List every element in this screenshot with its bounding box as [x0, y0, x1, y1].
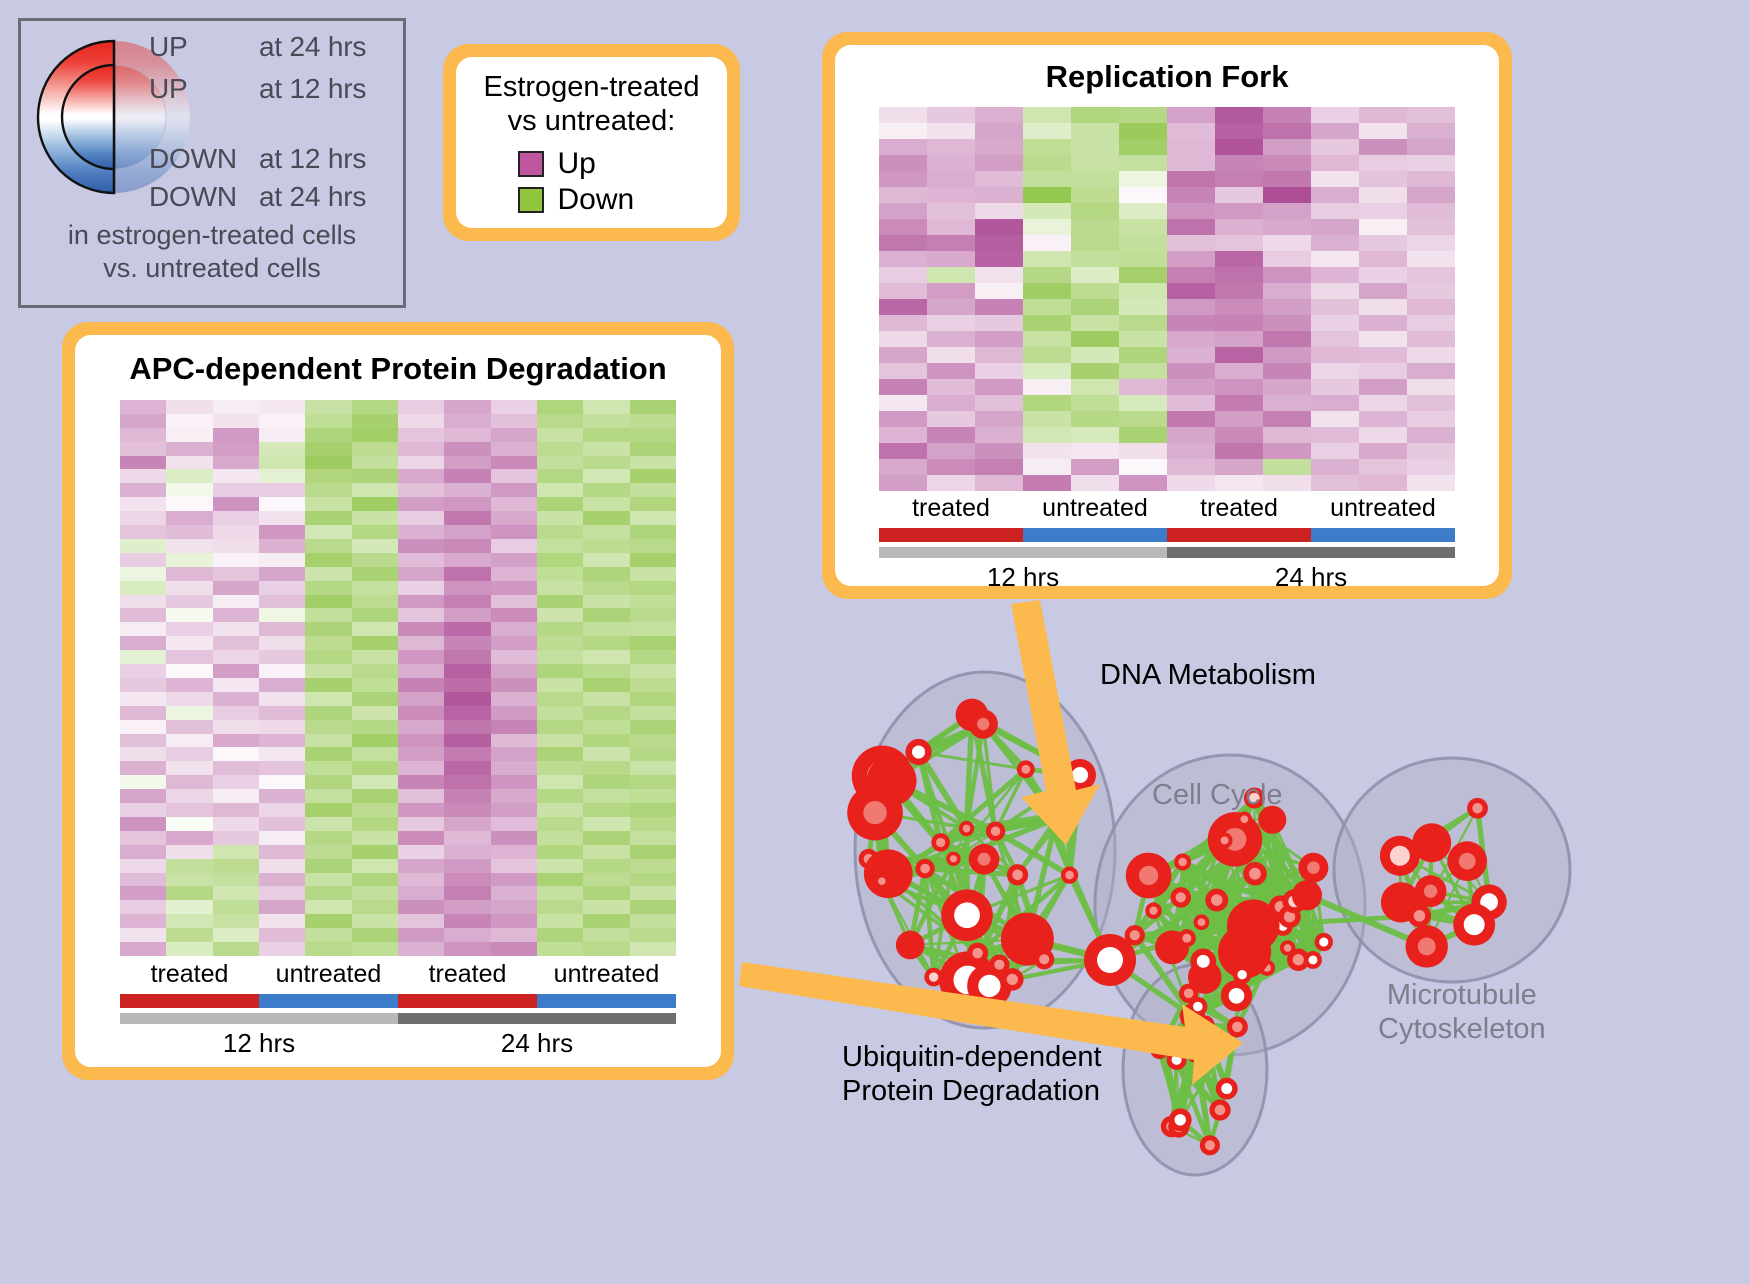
- heatmap-cell: [259, 678, 305, 692]
- heatmap-cell: [444, 539, 490, 553]
- heatmap-cell: [166, 511, 212, 525]
- heatmap-cell: [583, 483, 629, 497]
- rep-time-label-12: 12 hrs: [879, 563, 1167, 586]
- heatmap-cell: [537, 456, 583, 470]
- heatmap-cell: [120, 608, 166, 622]
- heatmap-cell: [1071, 475, 1119, 491]
- heatmap-cell: [120, 775, 166, 789]
- heatmap-cell: [213, 414, 259, 428]
- heatmap-cell: [583, 873, 629, 887]
- heatmap-cell: [1359, 171, 1407, 187]
- heatmap-cell: [1263, 235, 1311, 251]
- heatmap-cell: [537, 581, 583, 595]
- heatmap-cell: [352, 497, 398, 511]
- heatmap-cell: [630, 678, 676, 692]
- heatmap-cell: [1023, 171, 1071, 187]
- network-node-core: [1193, 1002, 1203, 1012]
- heatmap-cell: [1023, 235, 1071, 251]
- heatmap-cell: [352, 664, 398, 678]
- heatmap-cell: [879, 123, 927, 139]
- heatmap-cell: [213, 706, 259, 720]
- heatmap-cell: [583, 761, 629, 775]
- heatmap-cell: [1119, 379, 1167, 395]
- heatmap-cell: [120, 469, 166, 483]
- heatmap-cell: [1215, 235, 1263, 251]
- network-node-core: [1293, 954, 1304, 965]
- heatmap-cell: [1167, 251, 1215, 267]
- heatmap-cell: [1359, 283, 1407, 299]
- heatmap-cell: [259, 734, 305, 748]
- heatmap-cell: [1023, 347, 1071, 363]
- network-node-core: [912, 745, 925, 758]
- heatmap-cell: [305, 539, 351, 553]
- heatmap-cell: [120, 442, 166, 456]
- heatmap-cell: [444, 581, 490, 595]
- network-node-core: [1063, 808, 1072, 817]
- heatmap-cell: [879, 395, 927, 411]
- heatmap-cell: [927, 267, 975, 283]
- heatmap-cell: [630, 859, 676, 873]
- heatmap-cell: [1119, 187, 1167, 203]
- heatmap-cell: [879, 283, 927, 299]
- heatmap-cell: [491, 414, 537, 428]
- heatmap-cell: [1071, 251, 1119, 267]
- heatmap-cell: [491, 734, 537, 748]
- heatmap-cell: [166, 720, 212, 734]
- heatmap-cell: [120, 817, 166, 831]
- heatmap-cell: [975, 331, 1023, 347]
- heatmap-cell: [879, 427, 927, 443]
- heatmap-cell: [491, 747, 537, 761]
- heatmap-cell: [166, 859, 212, 873]
- heatmap-cell: [259, 845, 305, 859]
- heatmap-cell: [1263, 123, 1311, 139]
- heatmap-cell: [1407, 171, 1455, 187]
- network-node-core: [1021, 765, 1030, 774]
- heatmap-cell: [1359, 459, 1407, 475]
- heatmap-cell: [1023, 107, 1071, 123]
- network-node-core: [950, 855, 957, 862]
- heatmap-cell: [352, 622, 398, 636]
- heatmap-cell: [1359, 203, 1407, 219]
- heatmap-cell: [491, 483, 537, 497]
- heatmap-cell: [259, 497, 305, 511]
- heatmap-cell: [583, 817, 629, 831]
- heatmap-cell: [491, 581, 537, 595]
- heatmap-cell: [259, 414, 305, 428]
- heatmap-cell: [398, 706, 444, 720]
- heatmap-cell: [213, 525, 259, 539]
- heatmap-cell: [259, 428, 305, 442]
- heatmap-cell: [1311, 395, 1359, 411]
- heatmap-cell: [583, 581, 629, 595]
- heatmap-cell: [1167, 299, 1215, 315]
- heatmap-cell: [630, 928, 676, 942]
- heatmap-cell: [398, 734, 444, 748]
- network-node-core: [1390, 846, 1410, 866]
- heatmap-cell: [1407, 395, 1455, 411]
- heatmap-cell: [305, 581, 351, 595]
- heatmap-cell: [491, 567, 537, 581]
- heatmap-cell: [213, 636, 259, 650]
- heatmap-cell: [927, 459, 975, 475]
- heatmap-cell: [1359, 347, 1407, 363]
- heatmap-cell: [259, 817, 305, 831]
- heatmap-cell: [1263, 459, 1311, 475]
- heatmap-cell: [120, 511, 166, 525]
- network-node-core: [1190, 1037, 1201, 1048]
- heatmap-cell: [583, 789, 629, 803]
- heatmap-cell: [398, 789, 444, 803]
- heatmap-cell: [630, 775, 676, 789]
- heatmap-cell: [213, 456, 259, 470]
- heatmap-cell: [1215, 251, 1263, 267]
- apc-time-label-12: 12 hrs: [120, 1029, 398, 1058]
- heatmap-cell: [927, 379, 975, 395]
- heatmap-cell: [305, 817, 351, 831]
- heatmap-cell: [1215, 475, 1263, 491]
- heatmap-cell: [1311, 155, 1359, 171]
- heatmap-cell: [1119, 299, 1167, 315]
- heatmap-cell: [444, 747, 490, 761]
- heatmap-cell: [630, 803, 676, 817]
- heatmap-cell: [1071, 395, 1119, 411]
- legend-key-down-12: DOWN: [149, 143, 237, 175]
- heatmap-cell: [1407, 379, 1455, 395]
- heatmap-cell: [398, 622, 444, 636]
- heatmap-cell: [120, 567, 166, 581]
- network-node-core: [1221, 1083, 1232, 1094]
- heatmap-cell: [1167, 171, 1215, 187]
- heatmap-cell: [1071, 171, 1119, 187]
- heatmap-cell: [1167, 203, 1215, 219]
- heatmap-cell: [213, 469, 259, 483]
- rep-bar-untreated-12: [1023, 528, 1167, 542]
- heatmap-cell: [1071, 107, 1119, 123]
- heatmap-cell: [879, 219, 927, 235]
- heatmap-cell: [166, 734, 212, 748]
- heatmap-cell: [305, 942, 351, 956]
- heatmap-cell: [1071, 219, 1119, 235]
- heatmap-cell: [1119, 347, 1167, 363]
- heatmap-cell: [975, 283, 1023, 299]
- heatmap-cell: [444, 706, 490, 720]
- heatmap-cell: [120, 761, 166, 775]
- heatmap-cell: [352, 900, 398, 914]
- heatmap-cell: [259, 636, 305, 650]
- heatmap-cell: [213, 761, 259, 775]
- heatmap-cell: [352, 414, 398, 428]
- replication-fork-panel: Replication Fork treated untreated treat…: [822, 32, 1512, 599]
- heatmap-cell: [259, 761, 305, 775]
- heatmap-cell: [398, 567, 444, 581]
- heatmap-cell: [305, 469, 351, 483]
- heatmap-cell: [491, 817, 537, 831]
- heatmap-cell: [305, 775, 351, 789]
- heatmap-cell: [1311, 187, 1359, 203]
- heatmap-cell: [259, 692, 305, 706]
- heatmap-cell: [213, 428, 259, 442]
- heatmap-cell: [491, 928, 537, 942]
- heatmap-cell: [213, 734, 259, 748]
- network-node-core: [1139, 866, 1158, 885]
- apc-title: APC-dependent Protein Degradation: [75, 351, 721, 387]
- heatmap-cell: [975, 379, 1023, 395]
- heatmap-cell: [352, 886, 398, 900]
- heatmap-cell: [352, 831, 398, 845]
- legend-key-up-24: UP: [149, 31, 188, 63]
- heatmap-cell: [120, 650, 166, 664]
- replication-fork-title: Replication Fork: [835, 59, 1499, 95]
- network-node-core: [978, 853, 991, 866]
- network-node-core: [1178, 858, 1187, 867]
- heatmap-cell: [166, 845, 212, 859]
- heatmap-cell: [1071, 411, 1119, 427]
- heatmap-cell: [1215, 267, 1263, 283]
- heatmap-cell: [1071, 363, 1119, 379]
- heatmap-cell: [259, 469, 305, 483]
- heatmap-cell: [583, 928, 629, 942]
- apc-time-label-24: 24 hrs: [398, 1029, 676, 1058]
- heatmap-cell: [583, 803, 629, 817]
- heatmap-cell: [166, 469, 212, 483]
- heatmap-cell: [630, 886, 676, 900]
- heatmap-cell: [1359, 251, 1407, 267]
- heatmap-cell: [1311, 315, 1359, 331]
- heatmap-cell: [1311, 459, 1359, 475]
- heatmap-cell: [1263, 475, 1311, 491]
- heatmap-cell: [259, 706, 305, 720]
- heatmap-cell: [583, 414, 629, 428]
- heatmap-cell: [352, 692, 398, 706]
- heatmap-cell: [213, 608, 259, 622]
- heatmap-cell: [1263, 171, 1311, 187]
- heatmap-cell: [583, 525, 629, 539]
- heatmap-cell: [213, 928, 259, 942]
- heatmap-cell: [213, 539, 259, 553]
- heatmap-cell: [259, 928, 305, 942]
- heatmap-cell: [491, 622, 537, 636]
- heatmap-cell: [1407, 203, 1455, 219]
- cluster-label-cell-cycle: Cell Cycle: [1152, 778, 1283, 812]
- heatmap-cell: [1407, 475, 1455, 491]
- heatmap-cell: [305, 595, 351, 609]
- heatmap-cell: [352, 650, 398, 664]
- apc-timebar-24hrs: [398, 1013, 676, 1024]
- heatmap-cell: [1167, 411, 1215, 427]
- heatmap-cell: [537, 650, 583, 664]
- heatmap-cell: [1119, 235, 1167, 251]
- heatmap-cell: [213, 483, 259, 497]
- heatmap-cell: [1023, 331, 1071, 347]
- heatmap-cell: [120, 706, 166, 720]
- heatmap-cell: [305, 622, 351, 636]
- heatmap-cell: [975, 187, 1023, 203]
- heatmap-cell: [491, 469, 537, 483]
- heatmap-cell: [1215, 139, 1263, 155]
- heatmap-cell: [213, 581, 259, 595]
- heatmap-cell: [491, 428, 537, 442]
- heatmap-cell: [630, 747, 676, 761]
- heatmap-cell: [537, 483, 583, 497]
- heatmap-cell: [444, 817, 490, 831]
- heatmap-cell: [305, 747, 351, 761]
- heatmap-cell: [259, 914, 305, 928]
- heatmap-cell: [259, 886, 305, 900]
- heatmap-cell: [1215, 283, 1263, 299]
- heatmap-cell: [1023, 155, 1071, 171]
- heatmap-cell: [630, 636, 676, 650]
- heatmap-cell: [120, 900, 166, 914]
- heatmap-cell: [879, 139, 927, 155]
- heatmap-cell: [120, 678, 166, 692]
- heatmap-cell: [879, 347, 927, 363]
- heatmap-cell: [398, 664, 444, 678]
- heatmap-cell: [120, 414, 166, 428]
- heatmap-cell: [537, 831, 583, 845]
- down-swatch-icon: [518, 187, 544, 213]
- heatmap-cell: [120, 734, 166, 748]
- heatmap-cell: [305, 928, 351, 942]
- rep-timebar-24hrs: [1167, 547, 1455, 558]
- heatmap-cell: [166, 636, 212, 650]
- heatmap-cell: [583, 608, 629, 622]
- heatmap-cell: [259, 942, 305, 956]
- heatmap-cell: [444, 608, 490, 622]
- heatmap-cell: [1407, 267, 1455, 283]
- heatmap-cell: [1167, 443, 1215, 459]
- heatmap-cell: [1359, 299, 1407, 315]
- heatmap-cell: [398, 747, 444, 761]
- heatmap-cell: [1215, 395, 1263, 411]
- heatmap-cell: [166, 525, 212, 539]
- apc-group-label-0: treated: [120, 961, 259, 989]
- network-node-core: [878, 877, 886, 885]
- heatmap-cell: [583, 622, 629, 636]
- heatmap-cell: [1263, 395, 1311, 411]
- heatmap-cell: [927, 347, 975, 363]
- heatmap-cell: [583, 511, 629, 525]
- legend-time-up-12: at 12 hrs: [259, 73, 366, 105]
- heatmap-cell: [166, 942, 212, 956]
- legend-key-down-24: DOWN: [149, 181, 237, 213]
- heatmap-cell: [305, 553, 351, 567]
- heatmap-cell: [927, 331, 975, 347]
- heatmap-cell: [444, 942, 490, 956]
- heatmap-cell: [927, 203, 975, 219]
- heatmap-cell: [120, 581, 166, 595]
- heatmap-cell: [444, 553, 490, 567]
- heatmap-cell: [213, 845, 259, 859]
- heatmap-cell: [120, 692, 166, 706]
- heatmap-cell: [444, 692, 490, 706]
- heatmap-cell: [927, 251, 975, 267]
- heatmap-cell: [352, 817, 398, 831]
- heatmap-cell: [537, 734, 583, 748]
- heatmap-cell: [352, 789, 398, 803]
- heatmap-cell: [1119, 267, 1167, 283]
- heatmap-cell: [398, 831, 444, 845]
- heatmap-cell: [879, 379, 927, 395]
- heatmap-cell: [444, 650, 490, 664]
- heatmap-cell: [1215, 187, 1263, 203]
- heatmap-cell: [1263, 139, 1311, 155]
- heatmap-cell: [1167, 187, 1215, 203]
- heatmap-cell: [537, 595, 583, 609]
- heatmap-cell: [879, 171, 927, 187]
- heatmap-cell: [927, 475, 975, 491]
- heatmap-cell: [537, 942, 583, 956]
- heatmap-cell: [879, 475, 927, 491]
- heatmap-cell: [879, 251, 927, 267]
- heatmap-cell: [398, 497, 444, 511]
- heatmap-cell: [927, 315, 975, 331]
- heatmap-cell: [259, 803, 305, 817]
- heatmap-cell: [1167, 347, 1215, 363]
- network-node: [1227, 899, 1280, 952]
- heatmap-cell: [259, 608, 305, 622]
- heatmap-cell: [1263, 379, 1311, 395]
- heatmap-cell: [1407, 187, 1455, 203]
- heatmap-cell: [352, 914, 398, 928]
- heatmap-cell: [1407, 459, 1455, 475]
- heatmap-cell: [166, 775, 212, 789]
- heatmap-cell: [259, 859, 305, 873]
- heatmap-cell: [537, 497, 583, 511]
- heatmap-cell: [398, 720, 444, 734]
- heatmap-cell: [1167, 267, 1215, 283]
- heatmap-cell: [259, 650, 305, 664]
- heatmap-cell: [1023, 459, 1071, 475]
- rep-time-label-24: 24 hrs: [1167, 563, 1455, 586]
- heatmap-cell: [166, 567, 212, 581]
- heatmap-cell: [1215, 347, 1263, 363]
- heatmap-cell: [583, 886, 629, 900]
- heatmap-cell: [352, 761, 398, 775]
- heatmap-cell: [583, 859, 629, 873]
- heatmap-cell: [166, 706, 212, 720]
- heatmap-cell: [583, 845, 629, 859]
- heatmap-cell: [1407, 107, 1455, 123]
- heatmap-cell: [1119, 283, 1167, 299]
- heatmap-cell: [491, 831, 537, 845]
- heatmap-cell: [537, 747, 583, 761]
- heatmap-cell: [491, 761, 537, 775]
- heatmap-cell: [259, 720, 305, 734]
- heatmap-cell: [352, 775, 398, 789]
- heatmap-cell: [120, 886, 166, 900]
- heatmap-cell: [398, 595, 444, 609]
- heatmap-cell: [305, 845, 351, 859]
- heatmap-cell: [1407, 251, 1455, 267]
- heatmap-cell: [1071, 187, 1119, 203]
- heatmap-cell: [537, 761, 583, 775]
- heatmap-cell: [1311, 411, 1359, 427]
- heatmap-cell: [927, 155, 975, 171]
- heatmap-cell: [1119, 395, 1167, 411]
- heatmap-cell: [1071, 427, 1119, 443]
- heatmap-cell: [1215, 459, 1263, 475]
- heatmap-cell: [1311, 347, 1359, 363]
- heatmap-cell: [583, 636, 629, 650]
- heatmap-cell: [630, 595, 676, 609]
- heatmap-cell: [259, 622, 305, 636]
- heatmap-cell: [1215, 427, 1263, 443]
- heatmap-cell: [630, 622, 676, 636]
- heatmap-cell: [259, 400, 305, 414]
- heatmap-cell: [1359, 475, 1407, 491]
- heatmap-cell: [537, 692, 583, 706]
